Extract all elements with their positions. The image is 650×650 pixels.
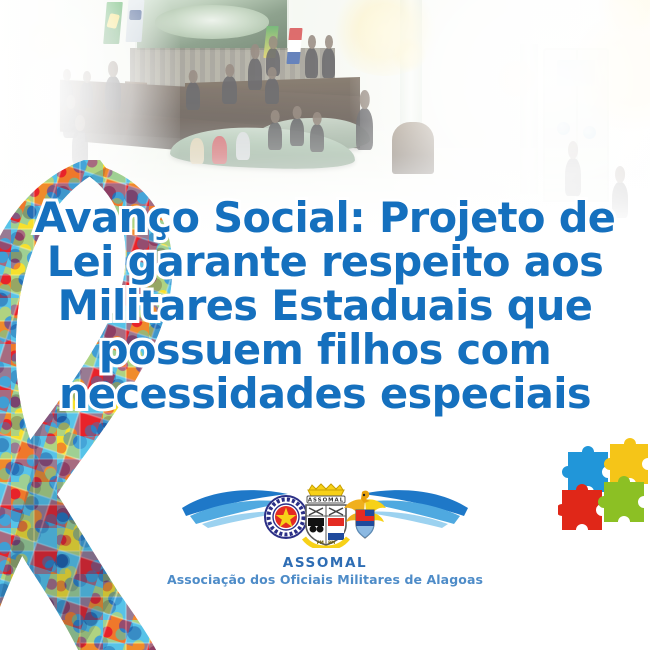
logo-emblems: ASSOMAL PM · BM [264, 482, 386, 554]
logo-name: ASSOMAL [283, 556, 367, 571]
headline-line-4: possuem filhos com [0, 328, 650, 372]
headline-line-5: necessidades especiais [0, 372, 650, 416]
logo-subtitle: Associação dos Oficiais Militares de Ala… [167, 572, 483, 587]
headline-line-3: Militares Estaduais que [0, 284, 650, 328]
headline-line-1: Avanço Social: Projeto de [0, 196, 650, 240]
headline: Avanço Social: Projeto de Lei garante re… [0, 196, 650, 416]
assomal-logo: ASSOMAL PM · BM [0, 482, 650, 597]
poster-canvas: Avanço Social: Projeto de Lei garante re… [0, 0, 650, 650]
headline-line-2: Lei garante respeito aos [0, 240, 650, 284]
svg-text:ASSOMAL: ASSOMAL [308, 498, 344, 504]
svg-text:PM · BM: PM · BM [317, 540, 335, 545]
logo-mark: ASSOMAL PM · BM [180, 482, 470, 554]
eagle-crest-icon [342, 490, 388, 546]
